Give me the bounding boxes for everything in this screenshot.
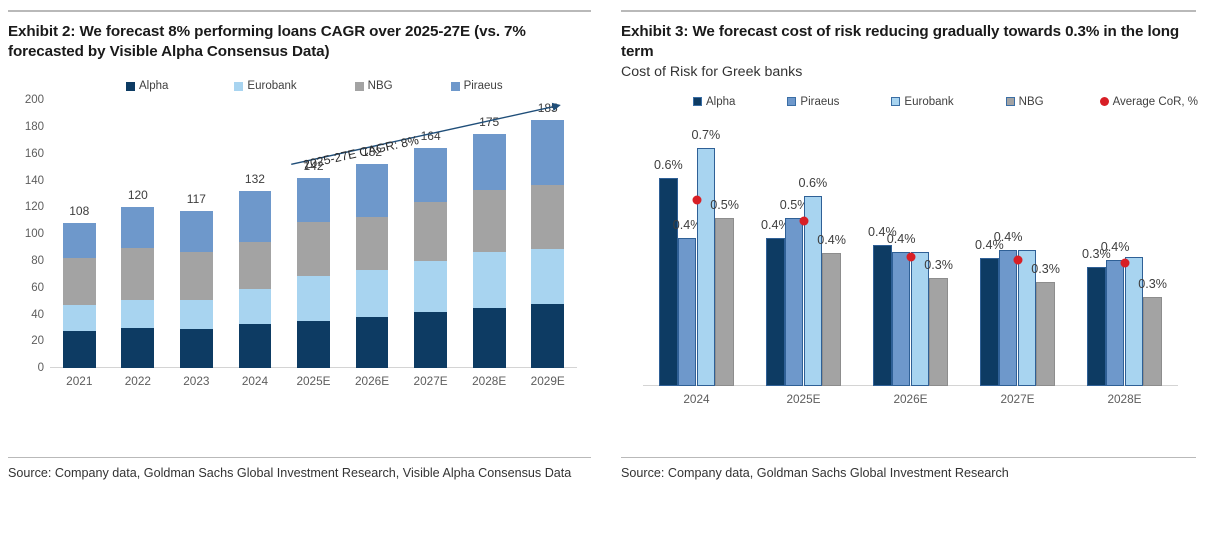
bar-piraeus[interactable] — [999, 250, 1018, 386]
y-axis-tick-label: 160 — [25, 148, 44, 160]
bar-value-label: 0.5% — [710, 198, 739, 212]
bar-value-label: 0.7% — [692, 128, 721, 142]
legend-item-piraeus[interactable]: Piraeus — [451, 80, 503, 92]
x-axis-tick-label: 2026E — [893, 392, 927, 406]
average-cor-marker[interactable] — [1120, 259, 1129, 268]
legend-swatch-icon — [126, 82, 135, 91]
y-axis-tick-label: 200 — [25, 94, 44, 106]
legend-label: Piraeus — [800, 96, 839, 108]
x-axis-tick-label: 2024 — [683, 392, 709, 406]
bar-value-label: 0.3% — [1138, 277, 1167, 291]
average-cor-marker[interactable] — [692, 195, 701, 204]
bar-nbg[interactable] — [715, 218, 734, 386]
legend-item-nbg[interactable]: NBG — [355, 80, 393, 92]
legend-label: Piraeus — [464, 80, 503, 92]
bar-alpha[interactable] — [659, 178, 678, 386]
y-axis-tick-label: 120 — [25, 201, 44, 213]
exhibit-3-panel: Exhibit 3: We forecast cost of risk redu… — [605, 0, 1210, 536]
bar-nbg[interactable] — [1036, 282, 1055, 386]
cagr-annotation: 2025-27E CAGR: 8% — [50, 100, 577, 368]
y-axis-tick-label: 100 — [25, 228, 44, 240]
legend-swatch-icon — [234, 82, 243, 91]
exhibit-3-source: Source: Company data, Goldman Sachs Glob… — [621, 465, 1196, 482]
x-axis-tick-label: 2029E — [531, 374, 565, 388]
x-axis-tick-label: 2025E — [296, 374, 330, 388]
legend-dot-icon — [1100, 97, 1109, 106]
bar-piraeus[interactable] — [1106, 260, 1125, 386]
x-axis-tick-label: 2027E — [1000, 392, 1034, 406]
source-rule — [8, 457, 591, 458]
exhibit-3-chart: AlphaPiraeusEurobankNBGAverage CoR, % 0.… — [621, 96, 1196, 412]
bar-nbg[interactable] — [929, 278, 948, 385]
bar-alpha[interactable] — [1087, 267, 1106, 386]
legend-item-eurobank[interactable]: Eurobank — [234, 80, 296, 92]
legend-swatch-icon — [693, 97, 702, 106]
average-cor-marker[interactable] — [1013, 255, 1022, 264]
exhibit-2-source: Source: Company data, Goldman Sachs Glob… — [8, 465, 591, 482]
source-rule — [621, 457, 1196, 458]
bar-nbg[interactable] — [822, 253, 841, 385]
legend-label: Average CoR, % — [1113, 96, 1198, 108]
y-axis-tick-label: 180 — [25, 121, 44, 133]
bar-value-label: 0.4% — [887, 232, 916, 246]
cagr-arrow-icon — [50, 100, 577, 368]
x-axis-tick-label: 2026E — [355, 374, 389, 388]
y-axis-tick-label: 60 — [31, 282, 44, 294]
legend-label: Eurobank — [247, 80, 296, 92]
legend-item-alpha[interactable]: Alpha — [693, 96, 735, 108]
x-axis-tick-label: 2023 — [183, 374, 209, 388]
average-cor-marker[interactable] — [906, 252, 915, 261]
panel-top-rule — [8, 10, 591, 12]
exhibit-3-title: Exhibit 3: We forecast cost of risk redu… — [621, 22, 1196, 62]
exhibit-2-x-axis: 20212022202320242025E2026E2027E2028E2029… — [50, 368, 577, 394]
x-axis-tick-label: 2022 — [125, 374, 151, 388]
x-axis-tick-label: 2028E — [472, 374, 506, 388]
y-axis-tick-label: 20 — [31, 335, 44, 347]
bar-value-label: 0.3% — [924, 258, 953, 272]
bar-alpha[interactable] — [766, 238, 785, 385]
legend-label: Eurobank — [904, 96, 953, 108]
panel-top-rule — [621, 10, 1196, 12]
bar-alpha[interactable] — [873, 245, 892, 386]
exhibit-3-x-axis: 20242025E2026E2027E2028E — [643, 386, 1178, 412]
x-axis-tick-label: 2025E — [786, 392, 820, 406]
bar-value-label: 0.6% — [799, 176, 828, 190]
bar-alpha[interactable] — [980, 258, 999, 385]
bar-piraeus[interactable] — [785, 218, 804, 386]
y-axis-tick-label: 0 — [38, 362, 44, 374]
bar-nbg[interactable] — [1143, 297, 1162, 386]
y-axis-tick-label: 140 — [25, 175, 44, 187]
exhibit-3-subtitle: Cost of Risk for Greek banks — [621, 63, 1196, 81]
y-axis-tick-label: 80 — [31, 255, 44, 267]
bar-value-label: 0.4% — [1101, 240, 1130, 254]
exhibit-2-chart: AlphaEurobankNBGPiraeus 0204060801001201… — [8, 80, 591, 394]
exhibit-2-legend: AlphaEurobankNBGPiraeus — [8, 80, 591, 92]
legend-item-alpha[interactable]: Alpha — [126, 80, 168, 92]
exhibit-2-plot: 0204060801001201401601802001081201171321… — [50, 100, 577, 368]
exhibits-page: Exhibit 2: We forecast 8% performing loa… — [0, 0, 1210, 536]
legend-swatch-icon — [451, 82, 460, 91]
exhibit-2-title: Exhibit 2: We forecast 8% performing loa… — [8, 22, 591, 62]
legend-label: Alpha — [706, 96, 735, 108]
legend-label: Alpha — [139, 80, 168, 92]
legend-item-average-cor[interactable]: Average CoR, % — [1100, 96, 1198, 108]
legend-swatch-icon — [891, 97, 900, 106]
exhibit-3-legend: AlphaPiraeusEurobankNBGAverage CoR, % — [621, 96, 1196, 108]
legend-swatch-icon — [355, 82, 364, 91]
x-axis-tick-label: 2024 — [242, 374, 268, 388]
legend-item-piraeus[interactable]: Piraeus — [787, 96, 839, 108]
legend-swatch-icon — [1006, 97, 1015, 106]
bar-value-label: 0.4% — [994, 230, 1023, 244]
legend-label: NBG — [368, 80, 393, 92]
bar-piraeus[interactable] — [678, 238, 697, 385]
exhibit-3-plot: 0.6%0.4%0.7%0.5%0.4%0.5%0.6%0.4%0.4%0.4%… — [643, 118, 1178, 386]
average-cor-marker[interactable] — [799, 217, 808, 226]
bar-value-label: 0.6% — [654, 158, 683, 172]
legend-swatch-icon — [787, 97, 796, 106]
x-axis-tick-label: 2021 — [66, 374, 92, 388]
legend-label: NBG — [1019, 96, 1044, 108]
x-axis-tick-label: 2027E — [414, 374, 448, 388]
bar-eurobank[interactable] — [697, 148, 716, 386]
bar-piraeus[interactable] — [892, 252, 911, 386]
bar-value-label: 0.3% — [1031, 262, 1060, 276]
bar-value-label: 0.4% — [817, 233, 846, 247]
legend-item-nbg[interactable]: NBG — [1006, 96, 1044, 108]
x-axis-tick-label: 2028E — [1107, 392, 1141, 406]
exhibit-2-panel: Exhibit 2: We forecast 8% performing loa… — [0, 0, 605, 536]
y-axis-tick-label: 40 — [31, 309, 44, 321]
legend-item-eurobank[interactable]: Eurobank — [891, 96, 953, 108]
